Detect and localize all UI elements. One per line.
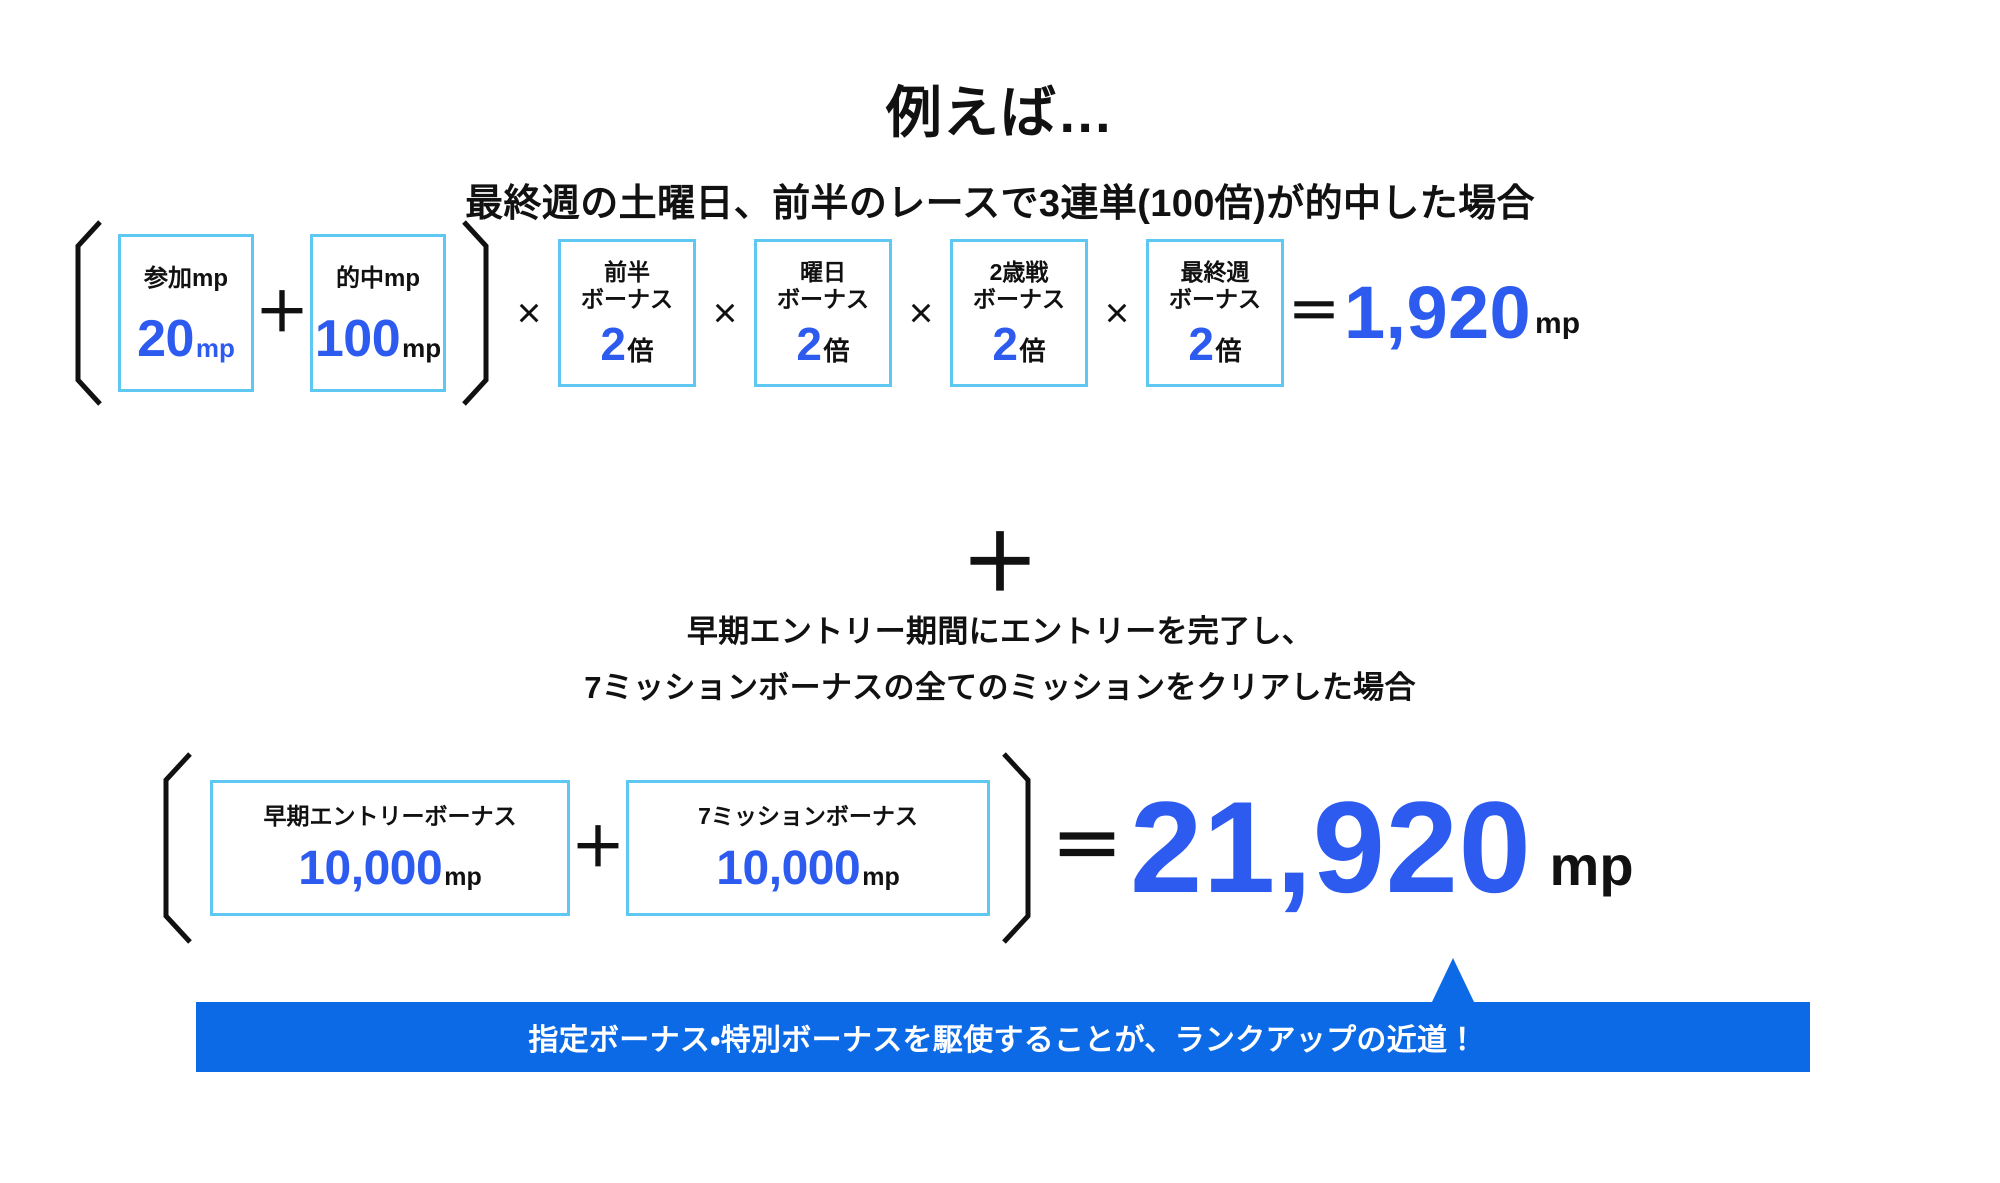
bottom-banner-text: 指定ボーナス・特別ボーナスを駆使することが、ランクアップの近道！ [528,1015,1477,1059]
result-first-formula: 1,920 mp [1344,279,1580,347]
box-value-unit: mp [402,335,441,365]
box-value-unit: 倍 [1216,338,1242,367]
box-value-unit: 倍 [628,338,654,367]
box-caption: 最終週 ボーナス [1169,259,1261,313]
left-bracket-icon [150,750,194,946]
box-value-number: 2 [1188,321,1213,367]
operator-plus-inner: ＋ [254,286,310,340]
operator-times-1: × [696,292,754,334]
box-value-unit: 倍 [1020,338,1046,367]
box-value-number: 10,000 [298,845,442,893]
box-caption: 曜日 ボーナス [777,259,869,313]
box-value-number: 10,000 [716,845,860,893]
operator-equals-second: ＝ [1044,812,1130,884]
box-value: 20 mp [137,313,235,365]
result-unit: mp [1535,309,1580,347]
operator-plus-inner-second: ＋ [570,821,626,875]
box-value: 2 倍 [1188,321,1241,367]
box-caption: 前半 ボーナス [581,259,673,313]
banner-pointer-arrow-icon [1431,958,1475,1004]
box-final-week-bonus: 最終週 ボーナス 2 倍 [1146,239,1284,387]
box-caption: 的中mp [336,265,420,293]
operator-times-group: × [500,292,558,334]
box-caption: 参加mp [144,265,228,293]
box-value: 10,000 mp [716,845,899,893]
box-participation-mp: 参加mp 20 mp [118,234,254,392]
operator-times-2: × [892,292,950,334]
box-caption: 2歳戦 ボーナス [973,259,1065,313]
box-first-half-bonus: 前半 ボーナス 2 倍 [558,239,696,387]
box-value: 2 倍 [992,321,1045,367]
box-value-unit: 倍 [824,338,850,367]
box-two-year-old-race-bonus: 2歳戦 ボーナス 2 倍 [950,239,1088,387]
formula-row-second: 早期エントリーボーナス 10,000 mp ＋ 7ミッションボーナス 10,00… [150,750,1634,946]
box-value: 100 mp [315,313,441,365]
mid-caption-line-1: 早期エントリー期間にエントリーを完了し、 [0,606,2000,651]
box-value-number: 2 [796,321,821,367]
box-early-entry-bonus: 早期エントリーボーナス 10,000 mp [210,780,570,916]
right-bracket-icon [460,218,500,408]
box-value-number: 2 [992,321,1017,367]
infographic-page: { "colors": { "accent_blue": "#2d5bf0", … [0,0,2000,1183]
box-value-number: 20 [137,313,194,365]
box-weekday-bonus: 曜日 ボーナス 2 倍 [754,239,892,387]
result-unit: mp [1550,838,1634,908]
box-value: 2 倍 [600,321,653,367]
formula-row-first: 参加mp 20 mp ＋ 的中mp 100 mp × 前半 ボーナス 2 倍 ×… [64,218,1580,408]
box-value-unit: mp [444,865,482,893]
right-bracket-icon [1000,750,1044,946]
box-value-unit: mp [196,335,235,365]
mid-caption-line-2: 7ミッションボーナスの全てのミッションをクリアした場合 [0,662,2000,707]
box-value-number: 2 [600,321,625,367]
box-value-number: 100 [315,313,400,365]
bottom-banner: 指定ボーナス・特別ボーナスを駆使することが、ランクアップの近道！ [196,1002,1810,1072]
operator-times-3: × [1088,292,1146,334]
box-value-unit: mp [862,865,900,893]
box-caption: 7ミッションボーナス [698,803,918,830]
left-bracket-icon [64,218,104,408]
operator-plus-between-formulas: ＋ [0,524,2000,602]
box-value: 10,000 mp [298,845,481,893]
result-total: 21,920 mp [1130,788,1634,908]
box-value: 2 倍 [796,321,849,367]
result-number: 21,920 [1130,788,1532,908]
box-caption: 早期エントリーボーナス [264,803,517,830]
box-hit-mp: 的中mp 100 mp [310,234,446,392]
page-title: 例えば… [0,68,2000,149]
result-number: 1,920 [1344,279,1531,347]
box-seven-mission-bonus: 7ミッションボーナス 10,000 mp [626,780,990,916]
operator-equals-first: ＝ [1284,287,1344,339]
